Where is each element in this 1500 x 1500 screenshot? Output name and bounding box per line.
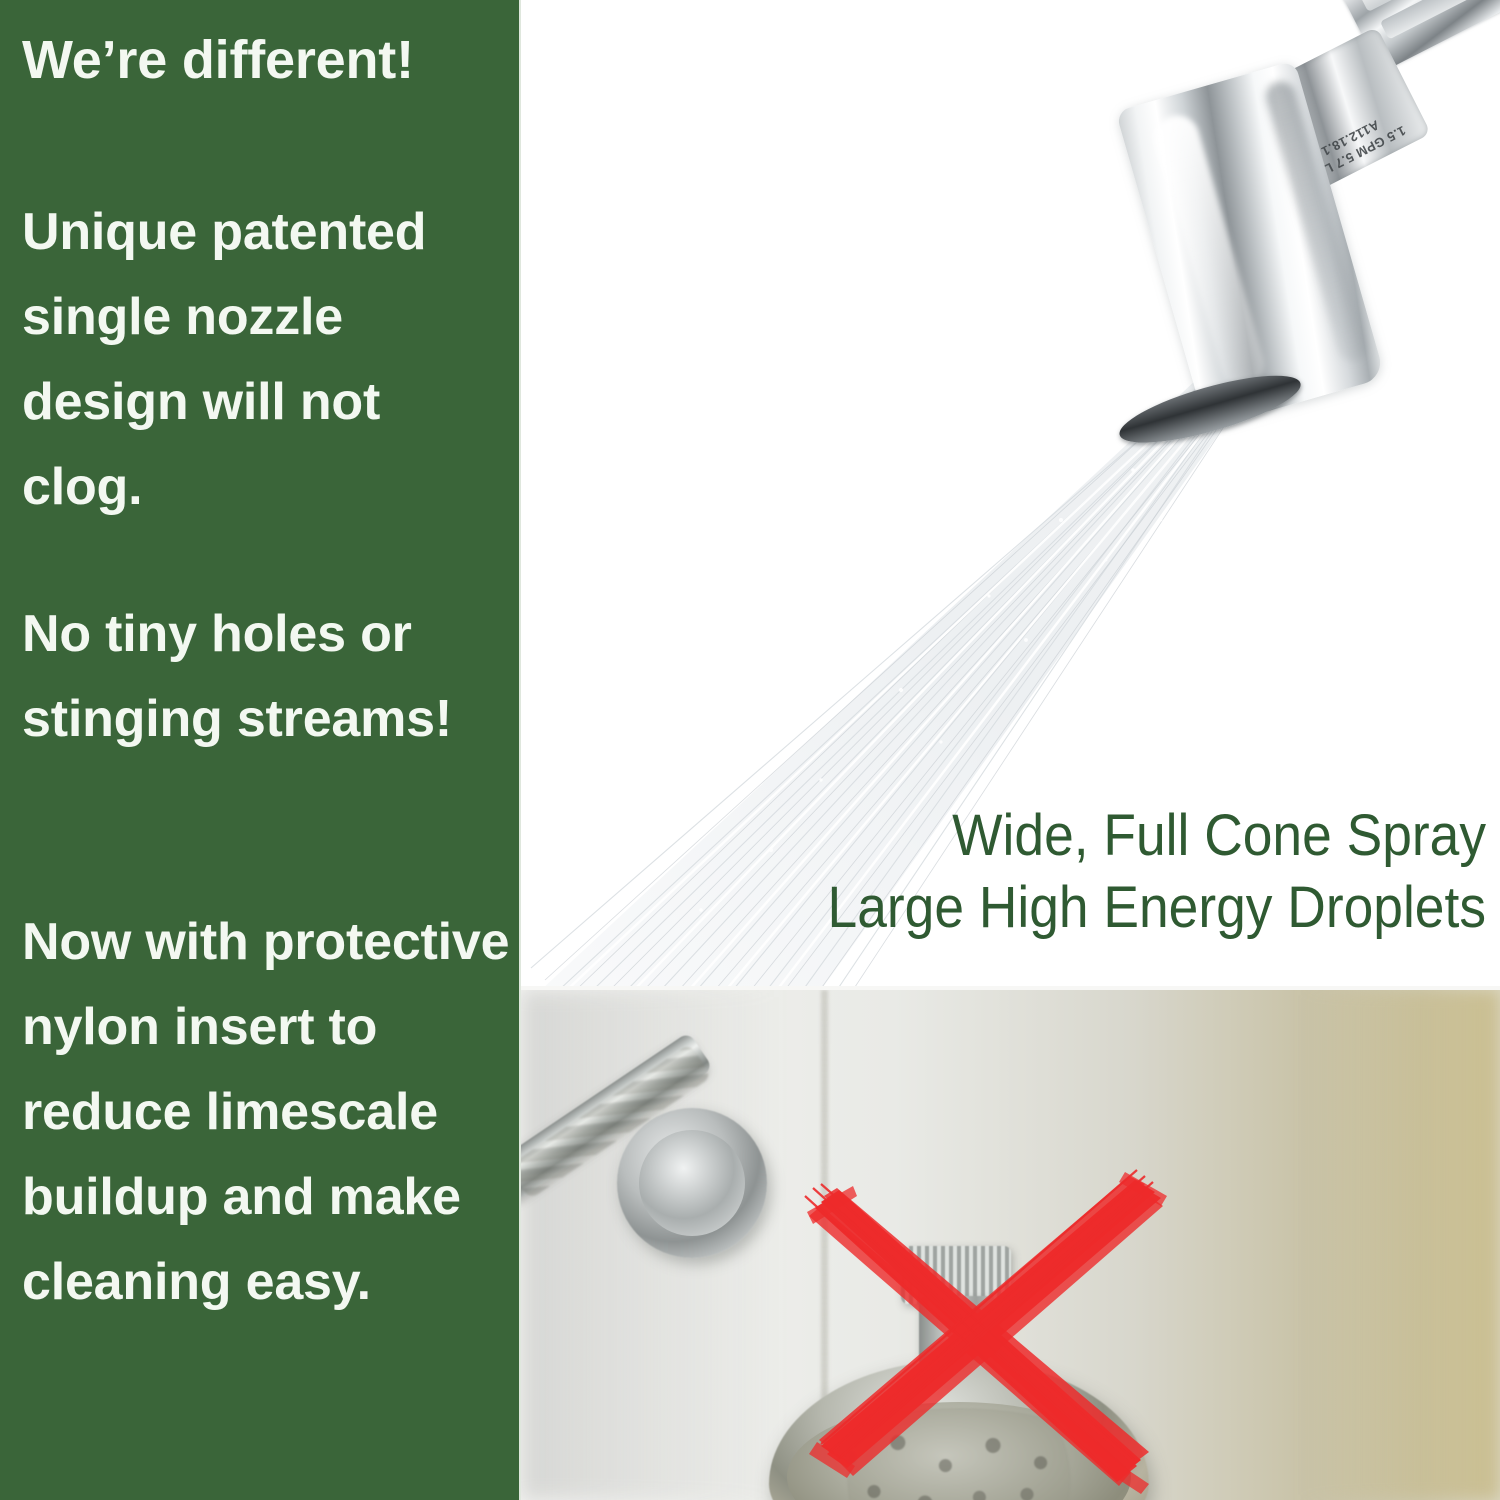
panel-headline: We’re different! [22, 28, 510, 92]
feature-paragraph-no-stinging: No tiny holes or stinging streams! [22, 592, 510, 762]
pipe-nut-facet-lower [1380, 0, 1500, 40]
caption-line-1: Wide, Full Cone Spray [598, 800, 1486, 872]
showerhead-icon: 1.5 GPM 5.7 L/M A112.18.1 [1034, 0, 1500, 464]
spray-caption: Wide, Full Cone Spray Large High Energy … [598, 800, 1486, 944]
feature-paragraph-no-clog: Unique patented single nozzle design wil… [22, 190, 510, 530]
clogged-showerhead-photo [521, 990, 1500, 1500]
caption-line-2: Large High Energy Droplets [598, 872, 1486, 944]
feature-paragraph-nylon-insert: Now with protective nylon insert to redu… [22, 900, 510, 1325]
barrel-highlight [1150, 110, 1269, 391]
infographic-canvas: We’re different! Unique patented single … [0, 0, 1500, 1500]
red-x-icon [521, 990, 1500, 1500]
spray-demo-photo: 1.5 GPM 5.7 L/M A112.18.1 Wide, Full Con… [521, 0, 1500, 990]
features-text-panel: We’re different! Unique patented single … [0, 0, 521, 1500]
